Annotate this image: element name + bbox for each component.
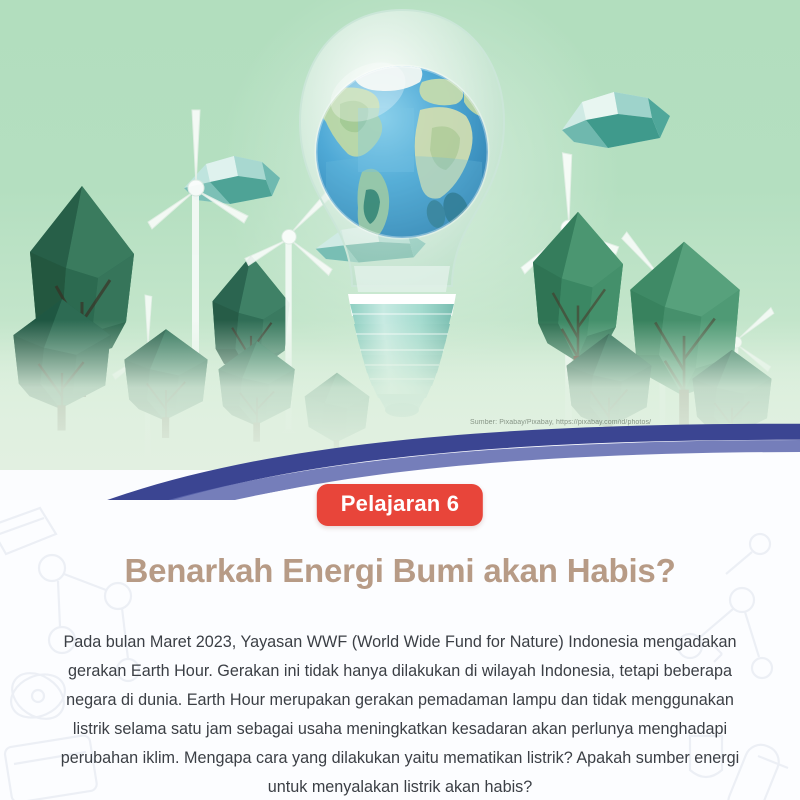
textbook-page: Sumber: Pixabay/Pixabay, https://pixabay…: [0, 0, 800, 800]
lesson-badge[interactable]: Pelajaran 6: [317, 484, 483, 526]
cloud-icon: [556, 80, 682, 158]
hero-illustration: Sumber: Pixabay/Pixabay, https://pixabay…: [0, 0, 800, 470]
body-paragraph: Pada bulan Maret 2023, Yayasan WWF (Worl…: [60, 628, 740, 800]
page-title: Benarkah Energi Bumi akan Habis?: [0, 552, 800, 590]
hero-ground: [0, 320, 800, 470]
image-source-caption: Sumber: Pixabay/Pixabay, https://pixabay…: [470, 419, 750, 426]
